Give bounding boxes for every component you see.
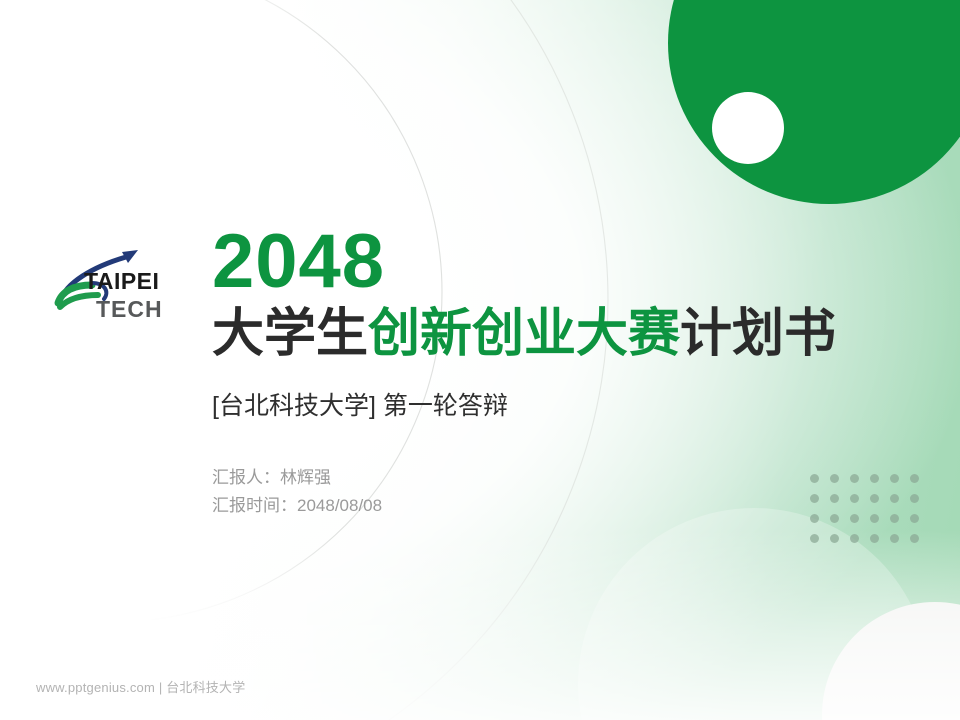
dot	[830, 534, 839, 543]
title-content: 2048 大学生创新创业大赛计划书 [台北科技大学] 第一轮答辩 汇报人：林辉强…	[212, 226, 912, 519]
title-slide: TAIPEI TECH 2048 大学生创新创业大赛计划书 [台北科技大学] 第…	[0, 0, 960, 720]
main-headline: 大学生创新创业大赛计划书	[212, 306, 912, 362]
dot	[810, 534, 819, 543]
dot	[890, 534, 899, 543]
logo-text-tech: TECH	[96, 296, 163, 322]
dot	[870, 534, 879, 543]
headline-part-before: 大学生	[212, 305, 368, 363]
footer-credit: www.pptgenius.com | 台北科技大学	[36, 677, 245, 696]
dot	[910, 534, 919, 543]
decor-circle-white-small	[712, 92, 784, 164]
headline-part-highlight: 创新创业大赛	[368, 305, 680, 363]
meta-presenter: 汇报人：林辉强	[212, 464, 912, 492]
meta-date: 汇报时间：2048/08/08	[212, 492, 912, 520]
presentation-meta: 汇报人：林辉强 汇报时间：2048/08/08	[212, 464, 912, 519]
subtitle: [台北科技大学] 第一轮答辩	[212, 386, 912, 422]
year-heading: 2048	[212, 226, 912, 298]
logo-text-taipei: TAIPEI	[84, 268, 159, 294]
dot	[850, 534, 859, 543]
taipei-tech-logo: TAIPEI TECH	[52, 243, 166, 329]
headline-part-after: 计划书	[680, 305, 836, 363]
